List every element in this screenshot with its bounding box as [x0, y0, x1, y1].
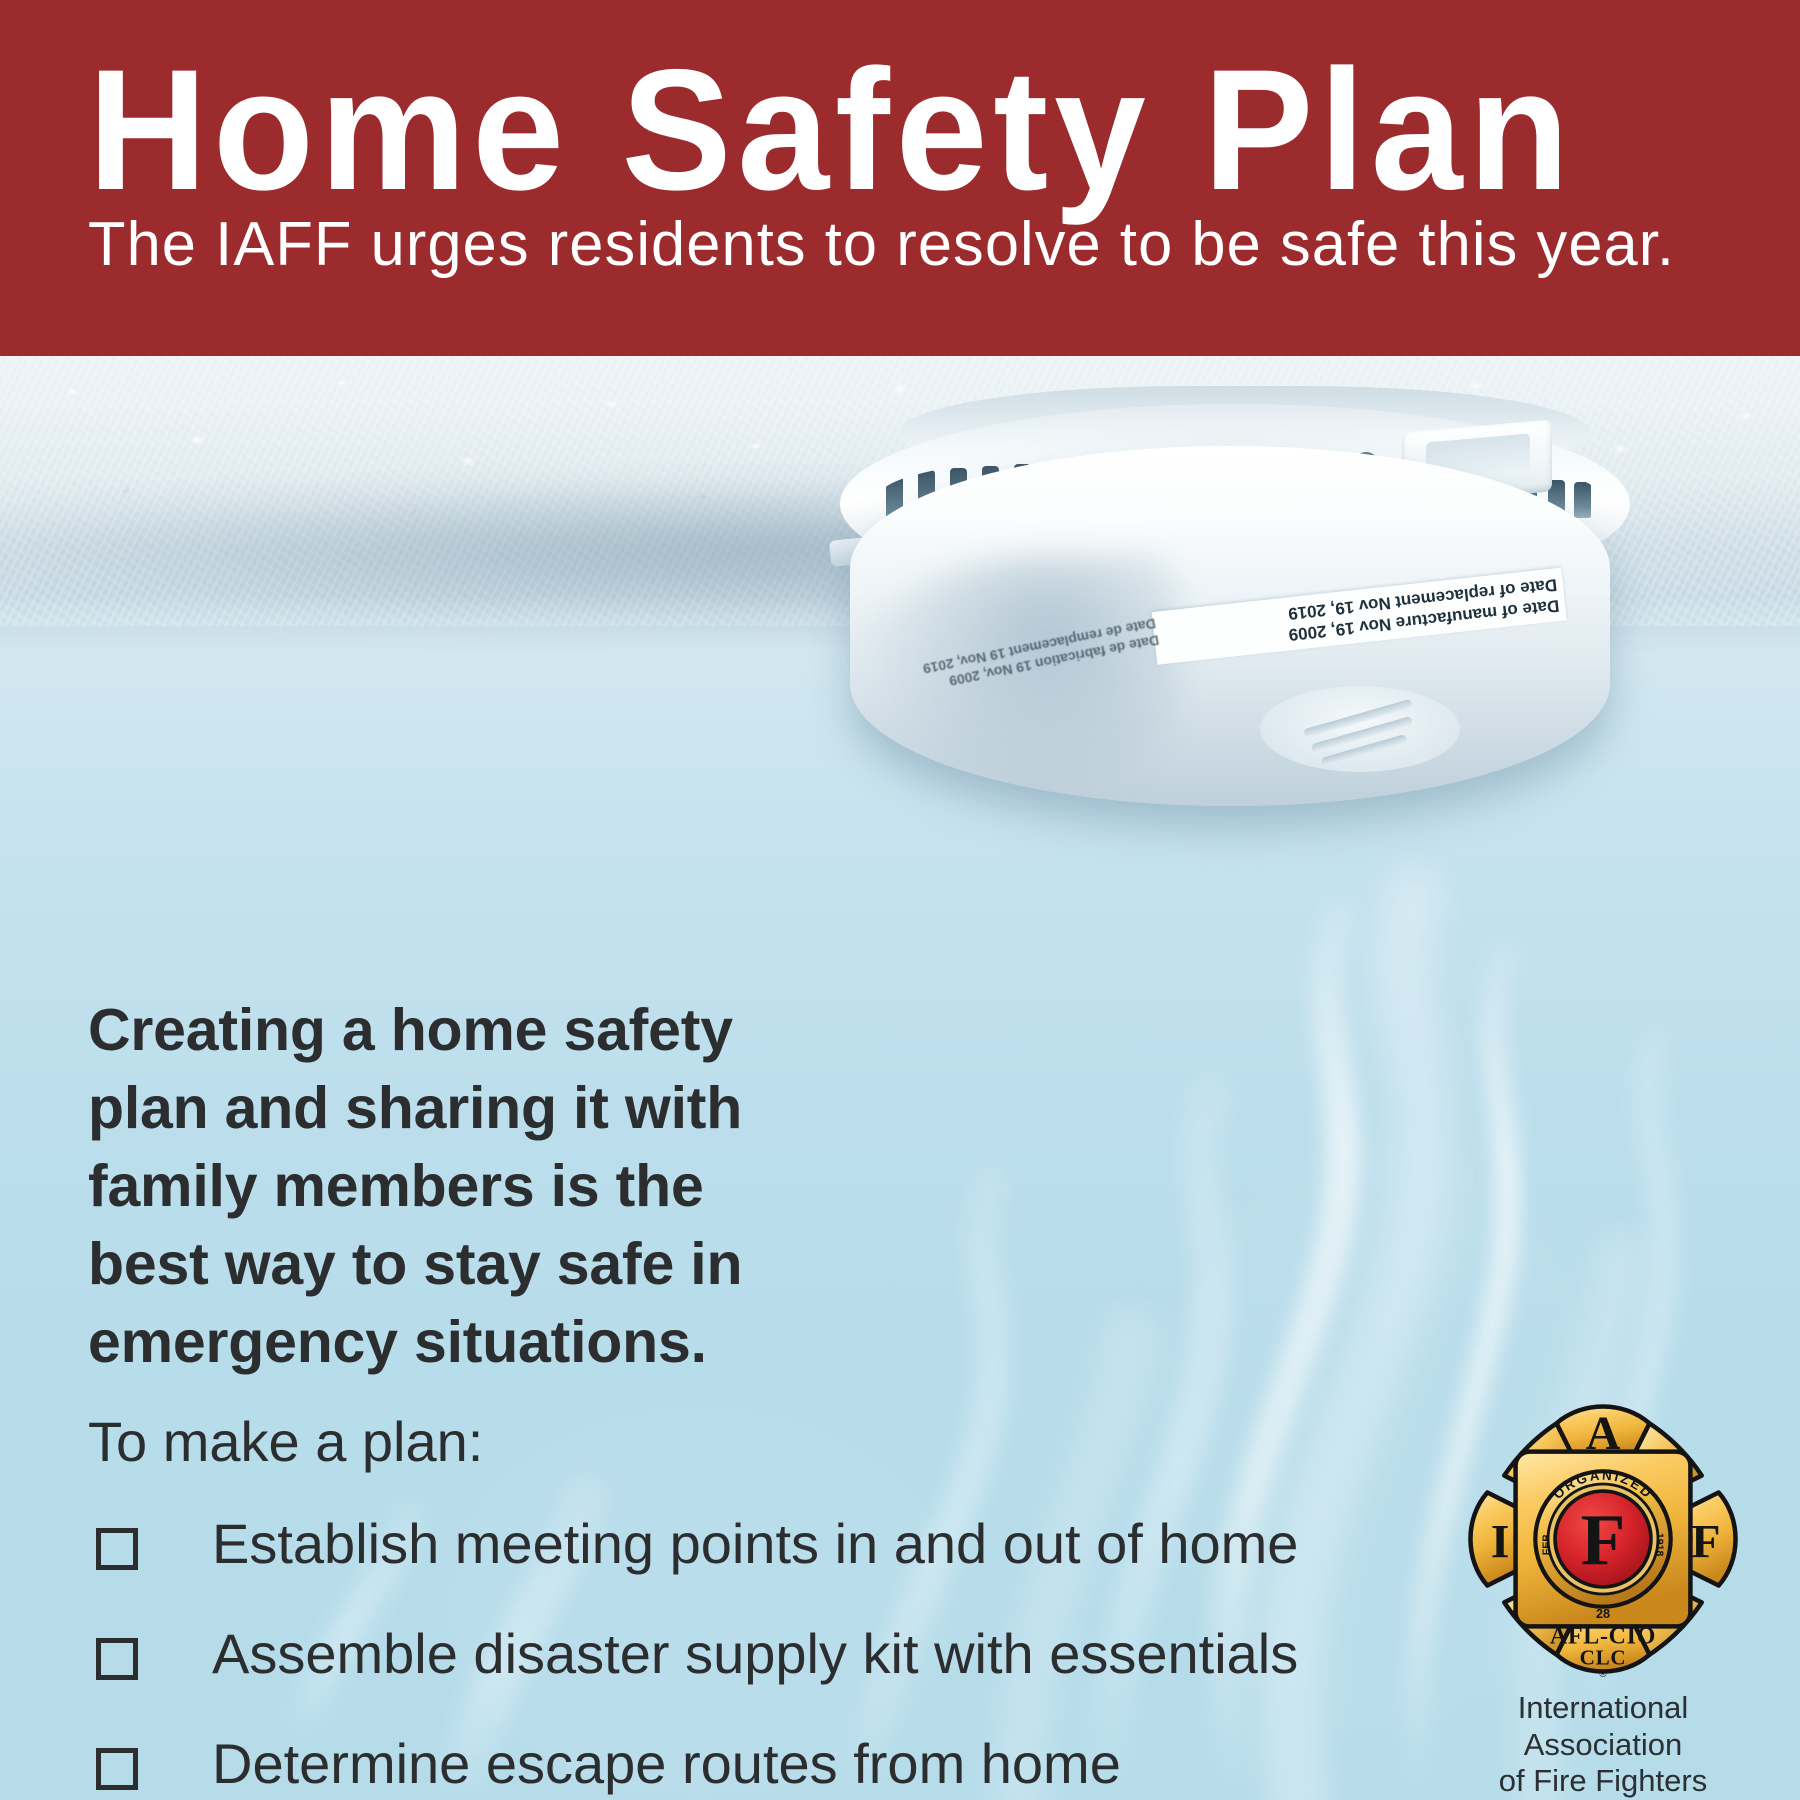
- logo-letter-i: I: [1491, 1515, 1510, 1568]
- smoke-detector-photo: Date of manufacture Nov 19, 2009 Date of…: [840, 386, 1650, 836]
- checklist: Establish meeting points in and out of h…: [88, 1528, 1428, 1800]
- logo-caption-line2: of Fire Fighters: [1438, 1763, 1768, 1800]
- logo-1918-text: 1918: [1654, 1533, 1666, 1557]
- photo-scene: Date of manufacture Nov 19, 2009 Date of…: [0, 356, 1800, 1800]
- logo-letter-f-right: F: [1691, 1515, 1720, 1568]
- list-item[interactable]: Determine escape routes from home: [88, 1748, 1428, 1800]
- iaff-maltese-cross-icon: A I F F ORGANIZED FEB 1918 28 AFL-CIO CL…: [1462, 1398, 1744, 1680]
- header-band: Home Safety Plan The IAFF urges resident…: [0, 0, 1800, 356]
- logo-clc: CLC: [1580, 1645, 1627, 1669]
- checkbox-icon[interactable]: [96, 1748, 138, 1790]
- to-make-a-plan-label: To make a plan:: [88, 1414, 483, 1470]
- logo-day-28: 28: [1596, 1607, 1610, 1621]
- page-title: Home Safety Plan: [88, 44, 1682, 216]
- poster-root: Home Safety Plan The IAFF urges resident…: [0, 0, 1800, 1800]
- logo-letter-f-center: F: [1581, 1499, 1626, 1580]
- page-subtitle: The IAFF urges residents to resolve to b…: [88, 214, 1751, 276]
- list-item-label: Determine escape routes from home: [212, 1736, 1121, 1792]
- list-item-label: Establish meeting points in and out of h…: [212, 1516, 1298, 1572]
- logo-registered-mark: ®: [1599, 1669, 1607, 1680]
- logo-letter-a: A: [1586, 1407, 1621, 1460]
- list-item-label: Assemble disaster supply kit with essent…: [212, 1626, 1298, 1682]
- iaff-logo-block: A I F F ORGANIZED FEB 1918 28 AFL-CIO CL…: [1438, 1398, 1768, 1800]
- logo-caption: International Association of Fire Fighte…: [1438, 1690, 1768, 1800]
- lead-paragraph: Creating a home safety plan and sharing …: [88, 992, 808, 1381]
- logo-caption-line1: International Association: [1438, 1690, 1768, 1763]
- detector-sounder-grille: [1260, 686, 1460, 772]
- logo-feb-text: FEB: [1540, 1534, 1552, 1555]
- checkbox-icon[interactable]: [96, 1528, 138, 1570]
- checkbox-icon[interactable]: [96, 1638, 138, 1680]
